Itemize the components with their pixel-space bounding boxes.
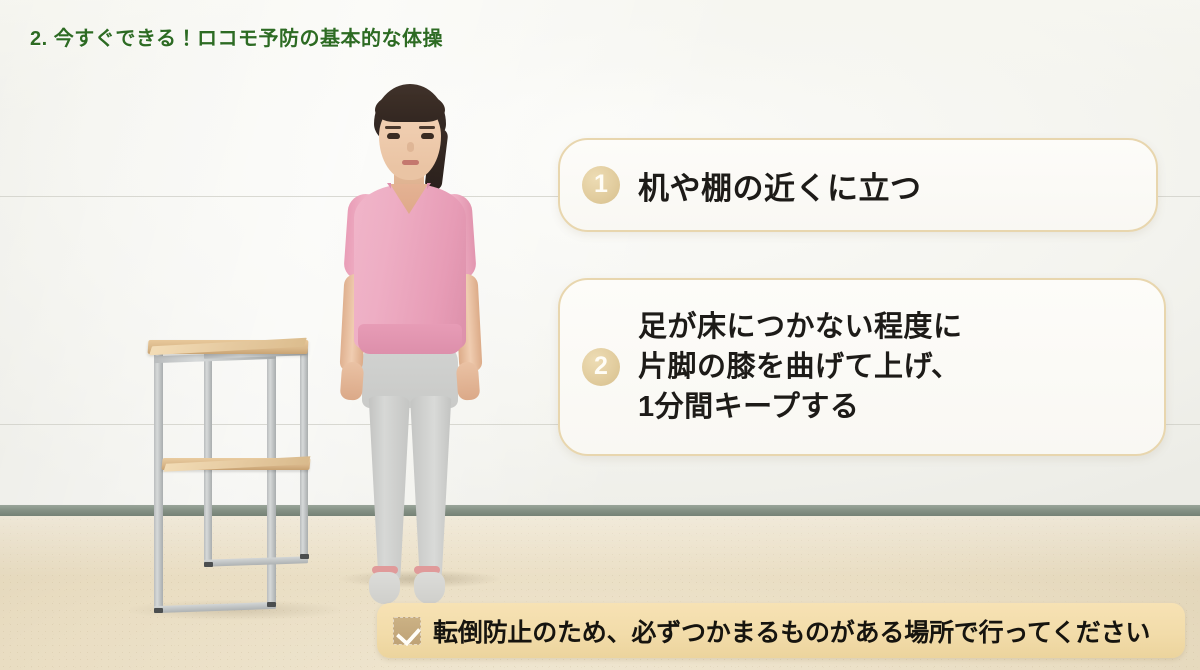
caution-note-bar: 転倒防止のため、必ずつかまるものがある場所で行ってください <box>377 603 1185 658</box>
desk-foot-back-right <box>300 554 309 559</box>
desk-leg-back-right <box>300 348 308 556</box>
hair-fringe <box>375 94 445 122</box>
desk-rail-front <box>154 602 276 613</box>
desk-shelf-furniture <box>140 340 320 625</box>
step-text-2: 足が床につかない程度に 片脚の膝を曲げて上げ、 1分間キープする <box>638 307 963 427</box>
leg-left <box>366 396 410 578</box>
desk-rail-back <box>204 556 308 567</box>
desk-leg-front-left <box>154 352 163 610</box>
step-card-2: 2 足が床につかない程度に 片脚の膝を曲げて上げ、 1分間キープする <box>558 278 1166 456</box>
desk-foot-front-right <box>267 602 276 607</box>
mouth <box>402 160 419 165</box>
sock-left <box>369 572 400 604</box>
caution-note-text: 転倒防止のため、必ずつかまるものがある場所で行ってください <box>433 613 1150 649</box>
eyebrow-left <box>385 126 401 129</box>
eye-left <box>387 133 400 139</box>
nose <box>407 142 414 152</box>
step-badge-2: 2 <box>582 348 620 386</box>
desk-foot-back-left <box>204 562 213 567</box>
step-2-line-1: 足が床につかない程度に <box>638 307 963 347</box>
tshirt-hem <box>358 324 462 354</box>
desk-leg-front-right <box>267 348 276 604</box>
hand-left <box>340 361 365 400</box>
step-text-1: 机や棚の近くに立つ <box>638 163 922 208</box>
step-1-line-1: 机や棚の近くに立つ <box>638 163 922 208</box>
slide-canvas: 2. 今すぐできる！ロコモ予防の基本的な体操 1 机や棚の近くに立つ 2 足が床… <box>0 0 1200 670</box>
step-badge-1: 1 <box>582 166 620 204</box>
eye-right <box>421 133 434 139</box>
sock-right <box>414 572 445 604</box>
step-card-1: 1 机や棚の近くに立つ <box>558 138 1158 232</box>
check-box-icon <box>393 617 421 645</box>
eyebrow-right <box>419 126 435 129</box>
page-title: 2. 今すぐできる！ロコモ予防の基本的な体操 <box>30 22 443 51</box>
person-figure <box>318 84 518 584</box>
desk-foot-front-left <box>154 608 163 613</box>
step-2-line-2: 片脚の膝を曲げて上げ、 <box>638 347 963 387</box>
leg-right <box>410 396 454 578</box>
step-2-line-3: 1分間キープする <box>638 387 963 427</box>
hand-right <box>456 361 481 400</box>
